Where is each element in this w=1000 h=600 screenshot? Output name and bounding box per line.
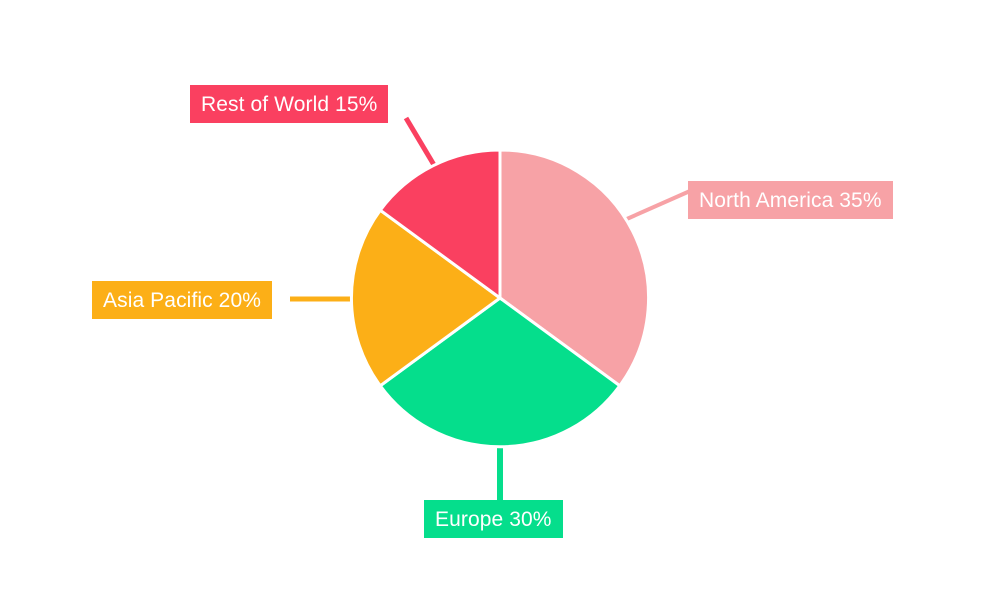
pie-slices [351, 150, 648, 447]
leader-line-rest-of-world [406, 118, 437, 170]
pie-label-north-america[interactable]: North America 35% [688, 181, 893, 219]
pie-label-europe[interactable]: Europe 30% [424, 500, 563, 538]
leader-line-north-america [620, 191, 690, 222]
pie-label-rest-of-world-text: Rest of World 15% [201, 94, 377, 115]
pie-label-rest-of-world[interactable]: Rest of World 15% [190, 85, 388, 123]
pie-label-north-america-text: North America 35% [699, 190, 882, 211]
pie-label-europe-text: Europe 30% [435, 509, 552, 530]
pie-label-asia-pacific[interactable]: Asia Pacific 20% [92, 281, 272, 319]
pie-label-asia-pacific-text: Asia Pacific 20% [103, 290, 261, 311]
pie-chart: North America 35% Europe 30% Asia Pacifi… [0, 0, 1000, 600]
